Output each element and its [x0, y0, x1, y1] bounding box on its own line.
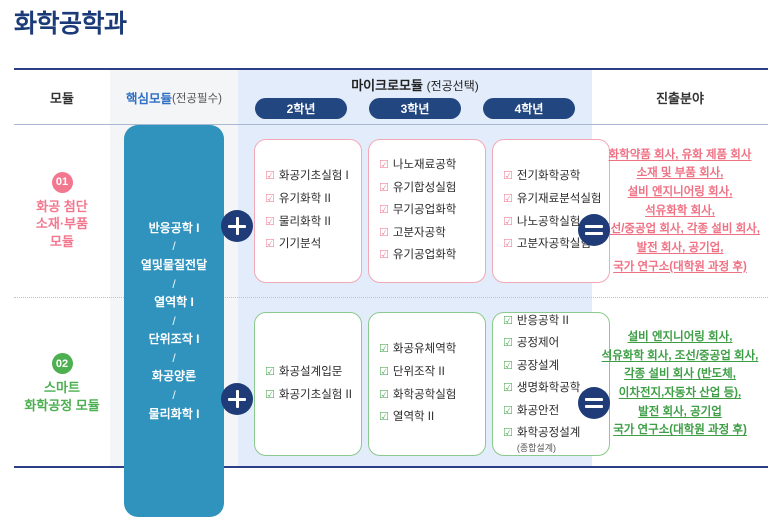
- header-core-label: 핵심모듈: [126, 88, 172, 107]
- course-item[interactable]: ☑공장설계: [503, 355, 599, 378]
- course-label: 전기화학공학: [517, 169, 580, 185]
- check-icon: ☑: [503, 314, 513, 328]
- course-label: 물리화학 II: [279, 215, 331, 231]
- career-line: 국가 연구소(대학원 과정 후): [600, 258, 760, 277]
- course-item[interactable]: ☑유기합성실험: [379, 177, 475, 200]
- header-micro-title: 마이크로모듈 (전공선택): [238, 70, 592, 94]
- header-core-module: 핵심모듈(전공필수): [110, 70, 238, 125]
- course-item[interactable]: ☑공정제어: [503, 333, 599, 356]
- course-item[interactable]: ☑화공기초실험 I: [265, 166, 351, 189]
- check-icon: ☑: [503, 404, 513, 418]
- check-icon: ☑: [265, 192, 275, 206]
- career-line: 발전 회사, 공기업: [602, 403, 759, 422]
- course-label: 화공안전: [517, 404, 559, 420]
- career-line: 소재 및 부품 회사,: [600, 164, 760, 183]
- micro-box-01-year2: ☑화공기초실험 I ☑유기화학 II ☑물리화학 II ☑기기분석: [254, 139, 362, 283]
- course-item[interactable]: ☑화공기초실험 II: [265, 384, 351, 407]
- check-icon: ☑: [379, 226, 389, 240]
- career-line: 국가 연구소(대학원 과정 후): [602, 421, 759, 440]
- career-line: 설비 엔지니어링 회사,: [600, 183, 760, 202]
- course-label: 고분자공학실험: [517, 237, 591, 253]
- check-icon: ☑: [379, 410, 389, 424]
- course-label-wrap: 화학공정설계(종합설계): [517, 426, 580, 454]
- core-separator: /: [172, 349, 175, 368]
- check-icon: ☑: [503, 169, 513, 183]
- course-label: 유기공업화학: [393, 248, 456, 264]
- check-icon: ☑: [379, 248, 389, 262]
- course-label: 화학공정설계: [517, 427, 580, 439]
- career-line: 석유화학 회사,: [600, 202, 760, 221]
- course-label: 나노재료공학: [393, 158, 456, 174]
- course-item[interactable]: ☑단위조작 II: [379, 361, 475, 384]
- career-field-text-01: 화학약품 회사, 유화 제품 회사 소재 및 부품 회사, 설비 엔지니어링 회…: [600, 146, 760, 276]
- core-separator: /: [172, 312, 175, 331]
- check-icon: ☑: [379, 158, 389, 172]
- module-number-badge-01: 01: [52, 172, 73, 193]
- course-item[interactable]: ☑열역학 II: [379, 407, 475, 430]
- course-label: 기기분석: [279, 237, 321, 253]
- check-icon: ☑: [379, 388, 389, 402]
- plus-icon: [221, 210, 253, 242]
- course-item[interactable]: ☑화공유체역학: [379, 339, 475, 362]
- check-icon: ☑: [503, 426, 513, 440]
- curriculum-table: 모듈 핵심모듈(전공필수) 마이크로모듈 (전공선택) 2학년 3학년 4학년 …: [14, 68, 768, 468]
- course-item[interactable]: ☑나노재료공학: [379, 155, 475, 178]
- core-separator: /: [172, 386, 175, 405]
- career-line: 각종 설비 회사 (반도체,: [602, 365, 759, 384]
- page-title: 화학공학과: [14, 4, 127, 40]
- year-pill-row: 2학년 3학년 4학년: [238, 98, 592, 119]
- core-course: 화공양론: [152, 367, 196, 386]
- module-name-line: 화학공정 모듈: [24, 397, 99, 415]
- course-label: 공정제어: [517, 336, 559, 352]
- micro-box-02-year3: ☑화공유체역학 ☑단위조작 II ☑화학공학실험 ☑열역학 II: [368, 312, 486, 456]
- course-label: 나노공학실험: [517, 215, 580, 231]
- header-micro-label: 마이크로모듈: [351, 78, 423, 93]
- career-field-01: 화학약품 회사, 유화 제품 회사 소재 및 부품 회사, 설비 엔지니어링 회…: [592, 125, 768, 297]
- course-note: (종합설계): [517, 442, 580, 454]
- course-item[interactable]: ☑반응공학 II: [503, 310, 599, 333]
- plus-icon: [221, 383, 253, 415]
- course-item[interactable]: ☑유기공업화학: [379, 245, 475, 268]
- course-label: 유기재료분석실험: [517, 192, 602, 208]
- course-item[interactable]: ☑화학공정설계(종합설계): [503, 423, 599, 458]
- check-icon: ☑: [265, 169, 275, 183]
- module-name-02: 스마트 화학공정 모듈: [24, 379, 99, 414]
- header-micro-sub: (전공선택): [427, 79, 479, 93]
- module-label-01: 01 화공 첨단 소재·부품 모듈: [14, 125, 110, 297]
- check-icon: ☑: [379, 181, 389, 195]
- check-icon: ☑: [503, 359, 513, 373]
- career-field-02: 설비 엔지니어링 회사, 석유화학 회사, 조선/중공업 회사, 각종 설비 회…: [592, 298, 768, 470]
- check-icon: ☑: [503, 215, 513, 229]
- check-icon: ☑: [503, 237, 513, 251]
- course-label: 열역학 II: [393, 410, 434, 426]
- check-icon: ☑: [379, 203, 389, 217]
- year-pill-3[interactable]: 3학년: [369, 98, 461, 119]
- module-name-line: 스마트: [24, 379, 99, 397]
- equals-icon: [578, 387, 610, 419]
- check-icon: ☑: [265, 215, 275, 229]
- check-icon: ☑: [265, 388, 275, 402]
- course-item[interactable]: ☑무기공업화학: [379, 200, 475, 223]
- course-item[interactable]: ☑유기화학 II: [265, 188, 351, 211]
- header-module: 모듈: [14, 70, 110, 125]
- course-item[interactable]: ☑고분자공학: [379, 222, 475, 245]
- course-item[interactable]: ☑화공설계입문: [265, 361, 351, 384]
- course-label: 단위조작 II: [393, 365, 445, 381]
- module-name-01: 화공 첨단 소재·부품 모듈: [36, 198, 88, 251]
- year-pill-2[interactable]: 2학년: [255, 98, 347, 119]
- career-line: 설비 엔지니어링 회사,: [602, 328, 759, 347]
- equals-icon: [578, 214, 610, 246]
- year-pill-4[interactable]: 4학년: [483, 98, 575, 119]
- career-line: 화학약품 회사, 유화 제품 회사: [600, 146, 760, 165]
- career-line: 조선/중공업 회사, 각종 설비 회사,: [600, 220, 760, 239]
- course-label: 화학공학실험: [393, 388, 456, 404]
- module-number-badge-02: 02: [52, 353, 73, 374]
- course-label: 유기합성실험: [393, 181, 456, 197]
- module-name-line: 소재·부품: [36, 215, 88, 233]
- core-separator: /: [172, 275, 175, 294]
- table-header: 모듈 핵심모듈(전공필수) 마이크로모듈 (전공선택) 2학년 3학년 4학년 …: [14, 70, 768, 125]
- course-label: 화공설계입문: [279, 365, 342, 381]
- micro-box-02-year2: ☑화공설계입문 ☑화공기초실험 II: [254, 312, 362, 456]
- module-name-line: 화공 첨단: [36, 198, 88, 216]
- core-module-box: 반응공학 I / 열및물질전달 / 열역학 I / 단위조작 I / 화공양론 …: [124, 125, 224, 517]
- check-icon: ☑: [503, 336, 513, 350]
- core-course: 반응공학 I: [149, 219, 200, 238]
- course-label: 화공기초실험 II: [279, 388, 352, 404]
- module-label-02: 02 스마트 화학공정 모듈: [14, 298, 110, 470]
- career-line: 석유화학 회사, 조선/중공업 회사,: [602, 347, 759, 366]
- core-separator: /: [172, 237, 175, 256]
- course-item[interactable]: ☑화학공학실험: [379, 384, 475, 407]
- course-item[interactable]: ☑물리화학 II: [265, 211, 351, 234]
- career-line: 이차전지,자동차 산업 등),: [602, 384, 759, 403]
- module-name-line: 모듈: [36, 233, 88, 251]
- check-icon: ☑: [265, 237, 275, 251]
- check-icon: ☑: [503, 192, 513, 206]
- course-item[interactable]: ☑유기재료분석실험: [503, 188, 599, 211]
- core-course: 열및물질전달: [141, 256, 207, 275]
- career-line: 발전 회사, 공기업,: [600, 239, 760, 258]
- check-icon: ☑: [379, 342, 389, 356]
- course-label: 반응공학 II: [517, 314, 569, 330]
- header-career-field: 진출분야: [592, 70, 768, 125]
- course-item[interactable]: ☑전기화학공학: [503, 166, 599, 189]
- course-label: 유기화학 II: [279, 192, 331, 208]
- check-icon: ☑: [503, 381, 513, 395]
- course-label: 무기공업화학: [393, 203, 456, 219]
- course-label: 화공유체역학: [393, 342, 456, 358]
- core-course: 단위조작 I: [149, 330, 200, 349]
- core-course: 열역학 I: [154, 293, 194, 312]
- course-label: 공장설계: [517, 359, 559, 375]
- micro-box-01-year3: ☑나노재료공학 ☑유기합성실험 ☑무기공업화학 ☑고분자공학 ☑유기공업화학: [368, 139, 486, 283]
- header-micro-module: 마이크로모듈 (전공선택) 2학년 3학년 4학년: [238, 70, 592, 125]
- course-label: 생명화학공학: [517, 381, 580, 397]
- check-icon: ☑: [379, 365, 389, 379]
- course-label: 화공기초실험 I: [279, 169, 349, 185]
- course-label: 고분자공학: [393, 226, 446, 242]
- header-core-sub: (전공필수): [172, 90, 222, 106]
- course-item[interactable]: ☑기기분석: [265, 234, 351, 257]
- check-icon: ☑: [265, 365, 275, 379]
- career-field-text-02: 설비 엔지니어링 회사, 석유화학 회사, 조선/중공업 회사, 각종 설비 회…: [602, 328, 759, 440]
- core-course: 물리화학 I: [149, 405, 200, 424]
